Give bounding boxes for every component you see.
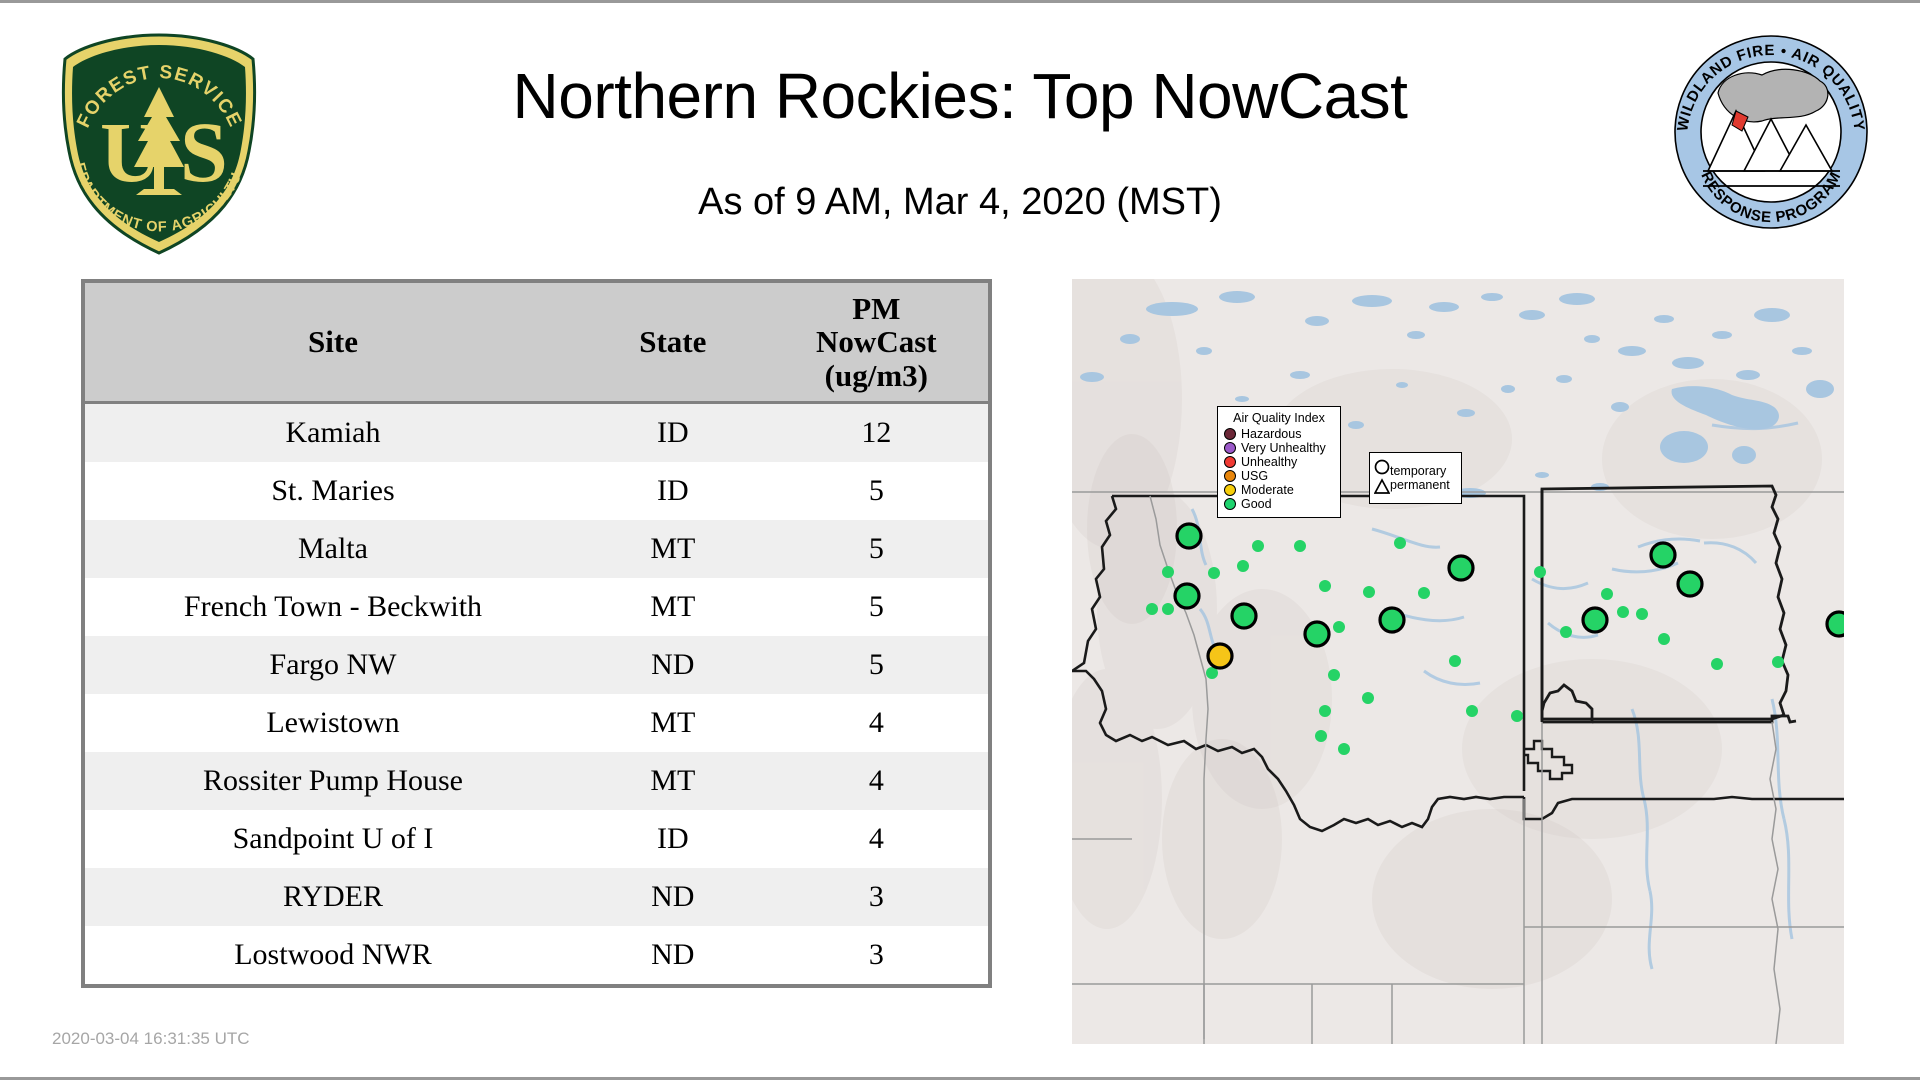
aqi-legend-dot-icon: [1224, 470, 1236, 482]
cell-site: Lewistown: [85, 694, 581, 752]
aqi-legend-label: Hazardous: [1241, 428, 1301, 441]
map-station-marker-small[interactable]: [1560, 626, 1572, 638]
cell-state: ND: [581, 926, 765, 984]
cell-state: ID: [581, 403, 765, 463]
cell-state: ND: [581, 636, 765, 694]
aqi-legend-label: Good: [1241, 498, 1272, 511]
map-station-marker-small[interactable]: [1162, 603, 1174, 615]
table-row: Sandpoint U of IID4: [85, 810, 988, 868]
map-station-marker-small[interactable]: [1315, 730, 1327, 742]
map-station-marker-large[interactable]: [1305, 622, 1329, 646]
aqi-legend-item: Moderate: [1224, 484, 1334, 497]
table-header-row: Site State PM NowCast (ug/m3): [85, 283, 988, 403]
table-row: Rossiter Pump HouseMT4: [85, 752, 988, 810]
cell-site: Fargo NW: [85, 636, 581, 694]
cell-state: ND: [581, 868, 765, 926]
map-station-marker-large[interactable]: [1449, 556, 1473, 580]
slide-page: U S FOREST SERVICE DEPARTMENT OF AGRICUL…: [0, 0, 1920, 1080]
map-station-marker-small[interactable]: [1319, 580, 1331, 592]
map-station-marker-small[interactable]: [1449, 655, 1461, 667]
cell-pm: 3: [765, 926, 988, 984]
page-subtitle: As of 9 AM, Mar 4, 2020 (MST): [290, 181, 1630, 224]
map-station-marker-small[interactable]: [1319, 705, 1331, 717]
map-station-marker-large[interactable]: [1651, 543, 1675, 567]
temporary-permanent-icons: [1374, 458, 1390, 498]
table-row: LewistownMT4: [85, 694, 988, 752]
table-row: Fargo NWND5: [85, 636, 988, 694]
cell-pm: 5: [765, 520, 988, 578]
cell-site: St. Maries: [85, 462, 581, 520]
pm-header-line2: NowCast: [769, 325, 984, 358]
air-quality-map[interactable]: Air Quality Index HazardousVery Unhealth…: [1072, 279, 1844, 1044]
table-row: KamiahID12: [85, 403, 988, 463]
map-station-marker-small[interactable]: [1511, 710, 1523, 722]
map-station-marker-small[interactable]: [1617, 606, 1629, 618]
aqi-legend-item: Unhealthy: [1224, 456, 1334, 469]
cell-pm: 5: [765, 636, 988, 694]
table-row: Lostwood NWRND3: [85, 926, 988, 984]
map-station-marker-small[interactable]: [1237, 560, 1249, 572]
cell-site: French Town - Beckwith: [85, 578, 581, 636]
aqi-legend-label: Unhealthy: [1241, 456, 1297, 469]
aqi-legend-dot-icon: [1224, 484, 1236, 496]
map-station-marker-small[interactable]: [1466, 705, 1478, 717]
map-station-marker-small[interactable]: [1162, 566, 1174, 578]
cell-pm: 12: [765, 403, 988, 463]
map-station-marker-large[interactable]: [1177, 524, 1201, 548]
cell-state: MT: [581, 694, 765, 752]
cell-site: Kamiah: [85, 403, 581, 463]
pm-header-line3: (ug/m3): [769, 359, 984, 392]
map-station-marker-small[interactable]: [1328, 669, 1340, 681]
usfs-logo: U S FOREST SERVICE DEPARTMENT OF AGRICUL…: [52, 29, 267, 259]
cell-state: MT: [581, 752, 765, 810]
cell-state: MT: [581, 578, 765, 636]
column-header-site: Site: [85, 283, 581, 403]
aqi-legend-item: Very Unhealthy: [1224, 442, 1334, 455]
map-station-marker-small[interactable]: [1208, 567, 1220, 579]
cell-state: ID: [581, 462, 765, 520]
map-station-marker-large[interactable]: [1232, 604, 1256, 628]
aqi-legend-dot-icon: [1224, 442, 1236, 454]
nowcast-table-container: Site State PM NowCast (ug/m3) KamiahID12…: [81, 279, 992, 988]
map-station-marker-small[interactable]: [1252, 540, 1264, 552]
aqi-legend-title: Air Quality Index: [1224, 411, 1334, 425]
station-type-symbols: [1374, 458, 1390, 498]
column-header-state: State: [581, 283, 765, 403]
nowcast-table: Site State PM NowCast (ug/m3) KamiahID12…: [85, 283, 988, 984]
aqi-legend-label: Moderate: [1241, 484, 1294, 497]
map-station-marker-small[interactable]: [1363, 586, 1375, 598]
aqi-legend-dot-icon: [1224, 428, 1236, 440]
map-station-marker-small[interactable]: [1146, 603, 1158, 615]
map-station-marker-small[interactable]: [1418, 587, 1430, 599]
map-station-marker-large[interactable]: [1583, 608, 1607, 632]
station-type-legend: temporary permanent: [1369, 452, 1462, 504]
table-row: MaltaMT5: [85, 520, 988, 578]
aqi-legend: Air Quality Index HazardousVery Unhealth…: [1217, 406, 1341, 518]
cell-pm: 4: [765, 752, 988, 810]
triangle-icon: [1375, 480, 1389, 493]
aqi-legend-dot-icon: [1224, 498, 1236, 510]
cell-pm: 3: [765, 868, 988, 926]
map-station-marker-small[interactable]: [1711, 658, 1723, 670]
map-station-marker-large[interactable]: [1380, 608, 1404, 632]
circle-icon: [1376, 461, 1389, 474]
map-station-marker-small[interactable]: [1534, 566, 1546, 578]
map-station-marker-large[interactable]: [1208, 644, 1232, 668]
column-header-site-label: Site: [308, 324, 358, 359]
aqi-legend-dot-icon: [1224, 456, 1236, 468]
cell-pm: 4: [765, 810, 988, 868]
map-station-marker-small[interactable]: [1601, 588, 1613, 600]
cell-site: Rossiter Pump House: [85, 752, 581, 810]
map-station-marker-small[interactable]: [1338, 743, 1350, 755]
footer-timestamp: 2020-03-04 16:31:35 UTC: [52, 1029, 250, 1049]
wfaqrp-logo: WILDLAND FIRE • AIR QUALITY RESPONSE PRO…: [1670, 31, 1872, 233]
map-station-marker-large[interactable]: [1827, 612, 1844, 636]
cell-state: ID: [581, 810, 765, 868]
map-station-marker-small[interactable]: [1394, 537, 1406, 549]
map-station-marker-small[interactable]: [1333, 621, 1345, 633]
cell-pm: 5: [765, 462, 988, 520]
aqi-legend-item: USG: [1224, 470, 1334, 483]
temporary-label: temporary: [1390, 464, 1450, 478]
table-row: RYDERND3: [85, 868, 988, 926]
cell-site: RYDER: [85, 868, 581, 926]
cell-site: Sandpoint U of I: [85, 810, 581, 868]
aqi-legend-label: Very Unhealthy: [1241, 442, 1326, 455]
map-station-marker-small[interactable]: [1658, 633, 1670, 645]
map-station-marker-small[interactable]: [1362, 692, 1374, 704]
table-row: St. MariesID5: [85, 462, 988, 520]
aqi-legend-item: Hazardous: [1224, 428, 1334, 441]
aqi-legend-label: USG: [1241, 470, 1268, 483]
aqi-legend-rows: HazardousVery UnhealthyUnhealthyUSGModer…: [1224, 428, 1334, 511]
cell-site: Lostwood NWR: [85, 926, 581, 984]
cell-pm: 5: [765, 578, 988, 636]
column-header-pm-nowcast: PM NowCast (ug/m3): [765, 283, 988, 403]
map-station-marker-small[interactable]: [1772, 656, 1784, 668]
map-station-marker-large[interactable]: [1175, 584, 1199, 608]
cell-pm: 4: [765, 694, 988, 752]
cell-site: Malta: [85, 520, 581, 578]
aqi-legend-item: Good: [1224, 498, 1334, 511]
pm-header-line1: PM: [769, 292, 984, 325]
page-title: Northern Rockies: Top NowCast: [290, 59, 1630, 133]
station-type-labels: temporary permanent: [1390, 464, 1450, 492]
cell-state: MT: [581, 520, 765, 578]
permanent-label: permanent: [1390, 478, 1450, 492]
table-body: KamiahID12St. MariesID5MaltaMT5French To…: [85, 403, 988, 985]
map-station-marker-small[interactable]: [1636, 608, 1648, 620]
map-station-marker-large[interactable]: [1678, 572, 1702, 596]
column-header-state-label: State: [639, 324, 706, 359]
map-canvas: [1072, 279, 1844, 1044]
table-row: French Town - BeckwithMT5: [85, 578, 988, 636]
map-station-marker-small[interactable]: [1294, 540, 1306, 552]
